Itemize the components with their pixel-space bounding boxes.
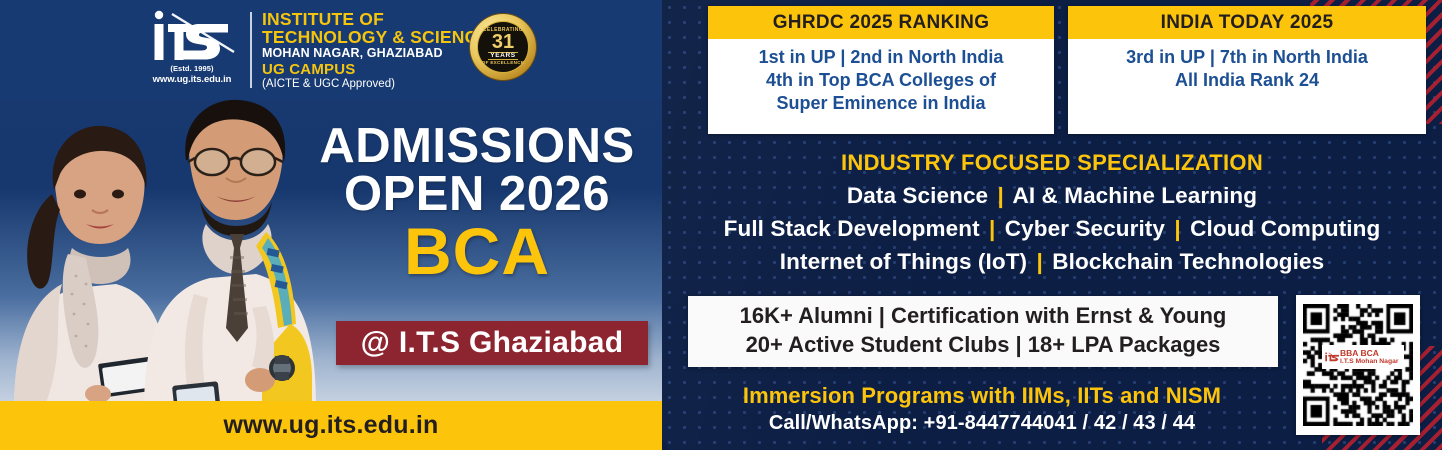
ranking-title: INDIA TODAY 2025 (1161, 12, 1334, 34)
campus-label: @ I.T.S Ghaziabad (361, 326, 624, 360)
contact-text[interactable]: Call/WhatsApp: +91-8447744041 / 42 / 43 … (672, 412, 1292, 435)
specialization-item: Cyber Security (1005, 216, 1165, 241)
specialization-separator: | (1034, 249, 1046, 274)
specialization-item: Data Science (847, 183, 988, 208)
right-panel: GHRDC 2025 RANKING 1st in UP | 2nd in No… (662, 0, 1442, 450)
specialization-item: Internet of Things (IoT) (780, 249, 1027, 274)
specialization-item: Full Stack Development (724, 216, 980, 241)
campus-banner: @ I.T.S Ghaziabad (336, 321, 648, 365)
highlight-line-2: 20+ Active Student Clubs | 18+ LPA Packa… (688, 331, 1278, 360)
specialization-item: Cloud Computing (1190, 216, 1380, 241)
headline-block: ADMISSIONS OPEN 2026 BCA (292, 122, 662, 284)
headline-open-year: OPEN 2026 (292, 170, 662, 220)
qr-code[interactable]: BBA BCA I.T.S Mohan Nagar (1296, 295, 1420, 435)
headline-admissions: ADMISSIONS (292, 122, 662, 170)
institute-campus: UG CAMPUS (262, 62, 489, 78)
logo-divider (250, 12, 252, 88)
website-bar[interactable]: www.ug.its.edu.in (0, 401, 662, 450)
admission-banner: (Estd. 1995) www.ug.its.edu.in INSTITUTE… (0, 0, 1442, 450)
institute-name-block: INSTITUTE OF TECHNOLOGY & SCIENCE MOHAN … (262, 10, 489, 91)
institute-line-1: INSTITUTE OF (262, 10, 489, 28)
ranking-title: GHRDC 2025 RANKING (773, 12, 990, 34)
specialization-row-2: Full Stack Development | Cyber Security … (662, 216, 1442, 242)
ranking-card-india-today: INDIA TODAY 2025 3rd in UP | 7th in Nort… (1068, 6, 1426, 134)
specialization-separator: | (986, 216, 998, 241)
specialization-row-1: Data Science | AI & Machine Learning (662, 183, 1442, 209)
its-logo-website: www.ug.its.edu.in (140, 74, 244, 85)
left-panel: (Estd. 1995) www.ug.its.edu.in INSTITUTE… (0, 0, 662, 450)
badge-bottom-label: OF EXCELLENCE (482, 60, 524, 66)
ranking-line: All India Rank 24 (1074, 69, 1420, 92)
ranking-card-ghrdc: GHRDC 2025 RANKING 1st in UP | 2nd in No… (708, 6, 1054, 134)
headline-program: BCA (292, 218, 662, 284)
ranking-line: Super Eminence in India (714, 92, 1048, 115)
ranking-card-body: 3rd in UP | 7th in North India All India… (1068, 39, 1426, 134)
specialization-separator: | (1171, 216, 1183, 241)
celebrating-31-years-badge: CELEBRATING 31 YEARS OF EXCELLENCE (470, 14, 536, 80)
website-url[interactable]: www.ug.its.edu.in (224, 411, 439, 440)
specialization-separator: | (995, 183, 1007, 208)
its-logo: (Estd. 1995) www.ug.its.edu.in (140, 6, 244, 94)
highlights-card: 16K+ Alumni | Certification with Ernst &… (688, 296, 1278, 367)
ranking-card-header: INDIA TODAY 2025 (1068, 6, 1426, 39)
highlight-line-1: 16K+ Alumni | Certification with Ernst &… (688, 302, 1278, 331)
ranking-line: 4th in Top BCA Colleges of (714, 69, 1048, 92)
qr-its-logo-icon (1324, 349, 1340, 365)
brand-logo-row: (Estd. 1995) www.ug.its.edu.in INSTITUTE… (140, 6, 489, 94)
specialization-row-3: Internet of Things (IoT) | Blockchain Te… (662, 249, 1442, 275)
specialization-item: Blockchain Technologies (1052, 249, 1324, 274)
institute-approval: (AICTE & UGC Approved) (262, 79, 489, 91)
its-estd-label: (Estd. 1995) (140, 64, 244, 73)
badge-number: 31 (492, 33, 514, 52)
immersion-programs-text: Immersion Programs with IIMs, IITs and N… (672, 383, 1292, 409)
ranking-line: 3rd in UP | 7th in North India (1074, 46, 1420, 69)
badge-years-label: YEARS (488, 52, 517, 61)
qr-label-line-1: BBA BCA (1340, 349, 1379, 358)
its-monogram-icon (142, 8, 242, 66)
institute-location: MOHAN NAGAR, GHAZIABAD (262, 47, 489, 60)
qr-label-line-2: I.T.S Mohan Nagar (1340, 358, 1399, 365)
specialization-title: INDUSTRY FOCUSED SPECIALIZATION (662, 150, 1442, 176)
students-photo (0, 98, 324, 410)
ranking-card-body: 1st in UP | 2nd in North India 4th in To… (708, 39, 1054, 134)
ranking-card-header: GHRDC 2025 RANKING (708, 6, 1054, 39)
specialization-section: INDUSTRY FOCUSED SPECIALIZATION Data Sci… (662, 150, 1442, 275)
ranking-line: 1st in UP | 2nd in North India (714, 46, 1048, 69)
student-male (144, 100, 316, 410)
specialization-item: AI & Machine Learning (1012, 183, 1257, 208)
institute-line-2: TECHNOLOGY & SCIENCE (262, 28, 489, 46)
rankings-row: GHRDC 2025 RANKING 1st in UP | 2nd in No… (708, 6, 1426, 134)
